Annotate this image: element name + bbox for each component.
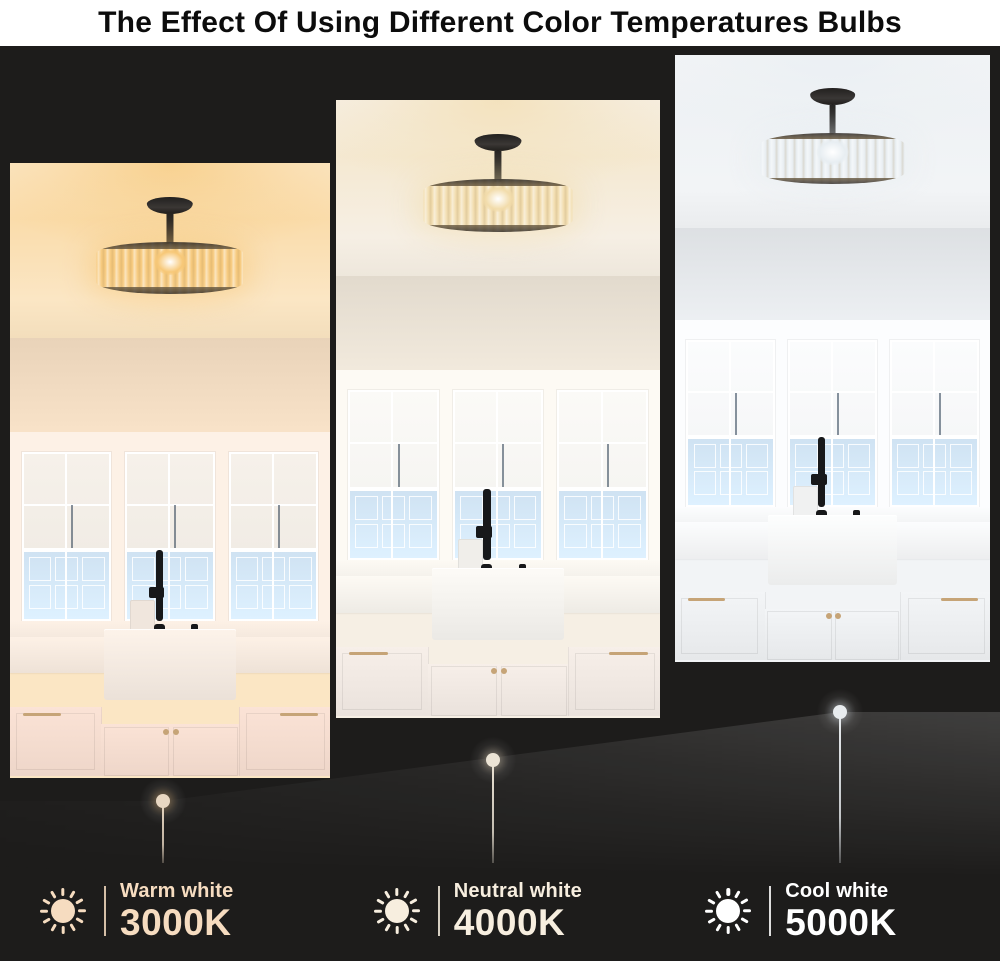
sun-ray	[727, 888, 730, 896]
cabinet-right	[568, 647, 660, 716]
scene-photo-neutral-white	[336, 100, 660, 718]
window-blind-cord	[837, 393, 839, 435]
sun-ray	[384, 890, 391, 899]
window-mullion-vertical	[391, 392, 393, 558]
cabinet-right	[239, 707, 330, 776]
window-blind-cord	[735, 393, 737, 435]
cabinet-left	[10, 707, 102, 776]
cabinet-panel-inset	[342, 653, 421, 710]
legend-text: Neutral white 4000K	[454, 881, 582, 941]
sun-ray	[376, 917, 385, 924]
cabinet-right	[900, 592, 990, 660]
sun-ray	[376, 898, 385, 905]
window-blind-cord	[71, 505, 73, 548]
window	[229, 452, 319, 621]
window-view-pane	[694, 471, 716, 495]
sun-ray	[42, 917, 51, 924]
sun-ray	[395, 926, 398, 934]
fixture-stem	[829, 105, 836, 135]
faucet-neck	[483, 489, 490, 560]
fixture-stem	[166, 213, 173, 244]
sun-ray	[740, 917, 749, 924]
cabinet-handle	[349, 652, 388, 655]
window-mullion-vertical	[601, 392, 603, 558]
sun-ray	[403, 890, 410, 899]
window	[890, 340, 978, 507]
cabinet-panel-inset	[246, 713, 324, 769]
legend-text: Warm white 3000K	[120, 881, 234, 941]
marker-stalk	[839, 712, 841, 863]
sun-ray	[374, 909, 382, 912]
legend-kelvin: 3000K	[120, 904, 234, 941]
farmhouse-sink	[432, 568, 565, 639]
title-bar: The Effect Of Using Different Color Temp…	[0, 0, 1000, 46]
sun-ray	[75, 898, 84, 905]
ceiling-light-fixture	[675, 55, 990, 237]
window-view-pane	[236, 585, 259, 609]
window-view-pane	[618, 524, 641, 548]
window-mullion-vertical	[168, 454, 170, 619]
sun-ray	[734, 890, 741, 899]
window-view-pane	[82, 585, 105, 609]
sun-ray	[42, 898, 51, 905]
sun-ray	[707, 898, 716, 905]
sun-ray	[715, 890, 722, 899]
legend-label: Neutral white	[454, 881, 582, 901]
cabinet-sink-base	[765, 609, 900, 660]
light-bulb	[482, 186, 515, 212]
window-view-pane	[409, 496, 432, 520]
window-row	[341, 390, 655, 560]
cabinet-panel-inset	[16, 713, 94, 769]
sun-ray	[734, 923, 741, 932]
sun-ray	[50, 923, 57, 932]
scene-photo-cool-white	[675, 55, 990, 662]
legend-divider	[104, 886, 106, 936]
sun-icon	[36, 884, 90, 938]
window-view-pane	[564, 524, 587, 548]
window-view-pane	[514, 524, 537, 548]
cabinet-panel-inset	[575, 653, 654, 710]
window-blind-cord	[607, 444, 609, 487]
drum-bottom-rim	[96, 287, 243, 294]
cabinet-door	[431, 666, 497, 716]
window-view-pane	[950, 444, 972, 468]
cabinet-door	[835, 611, 899, 660]
sun-ray	[412, 909, 420, 912]
window-view-pane	[132, 557, 155, 581]
cabinet-door	[173, 727, 238, 776]
legend-label: Warm white	[120, 881, 234, 901]
color-temperature-legend: Warm white 3000K Neutral white 4000K Coo…	[0, 861, 1000, 961]
window-view-pane	[460, 496, 483, 520]
sun-ray	[69, 890, 76, 899]
sun-ray	[705, 909, 713, 912]
window-view-pane	[897, 444, 919, 468]
window-view-pane	[795, 444, 817, 468]
ceiling-light-fixture	[336, 100, 660, 285]
sun-ray	[409, 917, 418, 924]
window	[557, 390, 648, 560]
cabinet-handle	[23, 713, 61, 716]
cabinet-panel-inset	[681, 598, 758, 654]
sun-ray	[40, 909, 48, 912]
faucet-neck	[818, 437, 825, 507]
window-mullion-vertical	[272, 454, 274, 619]
legend-text: Cool white 5000K	[785, 881, 897, 941]
faucet-neck	[156, 550, 163, 621]
fixture-crystal-drum	[760, 133, 905, 185]
sun-ray	[743, 909, 751, 912]
legend-label: Cool white	[785, 881, 897, 901]
drum-top-rim	[423, 179, 572, 186]
cabinet-door	[767, 611, 831, 660]
window-view-pane	[848, 444, 870, 468]
marker-neutral-white	[470, 737, 516, 783]
window-blind-cord	[939, 393, 941, 435]
fixture-canopy	[475, 134, 522, 151]
sun-ray	[395, 888, 398, 896]
light-bulb	[817, 139, 849, 165]
window-view-pane	[950, 471, 972, 495]
window-row	[15, 452, 325, 621]
drum-bottom-rim	[423, 225, 572, 232]
window-view-pane	[289, 557, 312, 581]
farmhouse-sink	[104, 629, 235, 700]
marker-stalk	[162, 801, 164, 863]
window-header-trim	[336, 370, 660, 389]
cabinet-knob	[163, 729, 169, 735]
legend-item-warm-white: Warm white 3000K	[0, 861, 328, 961]
window-view-pane	[618, 496, 641, 520]
legend-divider	[769, 886, 771, 936]
window-blind-cord	[174, 505, 176, 548]
fixture-crystal-drum	[423, 179, 572, 232]
window-header-trim	[10, 432, 330, 450]
marker-cool-white	[817, 689, 863, 735]
cabinet-door	[501, 666, 567, 716]
window-view-pane	[29, 557, 52, 581]
cabinet-handle	[609, 652, 648, 655]
window-view-pane	[289, 585, 312, 609]
cabinet-knob	[826, 613, 832, 619]
cabinet-left	[675, 592, 766, 660]
window-view-pane	[897, 471, 919, 495]
window-view-pane	[848, 471, 870, 495]
window-view-pane	[185, 557, 208, 581]
window-view-pane	[82, 557, 105, 581]
sun-ray	[78, 909, 86, 912]
window-view-pane	[29, 585, 52, 609]
window-view-pane	[564, 496, 587, 520]
faucet-spout	[149, 587, 164, 598]
cabinet-left	[336, 647, 429, 716]
window-view-pane	[694, 444, 716, 468]
window	[686, 340, 774, 507]
marker-warm-white	[140, 778, 186, 824]
window	[788, 340, 876, 507]
fixture-canopy	[810, 88, 856, 105]
fixture-stem	[494, 151, 501, 182]
sun-ray	[69, 923, 76, 932]
window-mullion-vertical	[496, 392, 498, 558]
sun-ray	[707, 917, 716, 924]
window-row	[680, 340, 986, 507]
window	[125, 452, 215, 621]
window-mullion-vertical	[831, 342, 833, 505]
window-view-pane	[514, 496, 537, 520]
sun-ray	[61, 888, 64, 896]
scene-photo-warm-white	[10, 163, 330, 778]
sun-icon	[701, 884, 755, 938]
cabinet-handle	[280, 713, 318, 716]
sun-core	[716, 899, 740, 923]
sun-core	[51, 899, 75, 923]
legend-item-neutral-white: Neutral white 4000K	[328, 861, 663, 961]
ceiling-light-fixture	[10, 163, 330, 347]
window-blind-cord	[398, 444, 400, 487]
cabinet-handle	[688, 598, 726, 601]
sun-ray	[384, 923, 391, 932]
sun-ray	[715, 923, 722, 932]
window-view-pane	[746, 444, 768, 468]
cabinet-sink-base	[428, 664, 567, 716]
sun-ray	[61, 926, 64, 934]
cabinet-knob	[173, 729, 179, 735]
cabinet-handle	[941, 598, 979, 601]
window-view-pane	[185, 585, 208, 609]
sun-ray	[50, 890, 57, 899]
sun-icon	[370, 884, 424, 938]
legend-item-cool-white: Cool white 5000K	[663, 861, 1000, 961]
sun-core	[385, 899, 409, 923]
cabinet-sink-base	[101, 724, 239, 776]
window-view-pane	[355, 496, 378, 520]
sun-ray	[727, 926, 730, 934]
sun-ray	[409, 898, 418, 905]
window	[348, 390, 439, 560]
window	[22, 452, 112, 621]
window-header-trim	[675, 320, 990, 338]
fixture-crystal-drum	[96, 242, 243, 294]
drum-bottom-rim	[760, 178, 905, 185]
cabinet-door	[104, 727, 169, 776]
faucet-spout	[476, 526, 492, 537]
poster-stage: The Effect Of Using Different Color Temp…	[0, 0, 1000, 961]
window-view-pane	[355, 524, 378, 548]
sun-ray	[740, 898, 749, 905]
window-view-pane	[236, 557, 259, 581]
window-blind-cord	[502, 444, 504, 487]
cabinet-panel-inset	[908, 598, 985, 654]
drum-top-rim	[760, 133, 905, 140]
window-mullion-vertical	[933, 342, 935, 505]
drum-top-rim	[96, 242, 243, 249]
legend-kelvin: 4000K	[454, 904, 582, 941]
window-mullion-vertical	[729, 342, 731, 505]
window-view-pane	[409, 524, 432, 548]
page-title: The Effect Of Using Different Color Temp…	[98, 6, 902, 40]
marker-stalk	[492, 760, 494, 863]
legend-kelvin: 5000K	[785, 904, 897, 941]
window	[453, 390, 544, 560]
window-view-pane	[746, 471, 768, 495]
farmhouse-sink	[768, 515, 897, 585]
legend-divider	[438, 886, 440, 936]
window-blind-cord	[278, 505, 280, 548]
fixture-canopy	[147, 197, 193, 214]
sun-ray	[75, 917, 84, 924]
faucet-spout	[811, 474, 826, 485]
window-mullion-vertical	[65, 454, 67, 619]
sun-ray	[403, 923, 410, 932]
